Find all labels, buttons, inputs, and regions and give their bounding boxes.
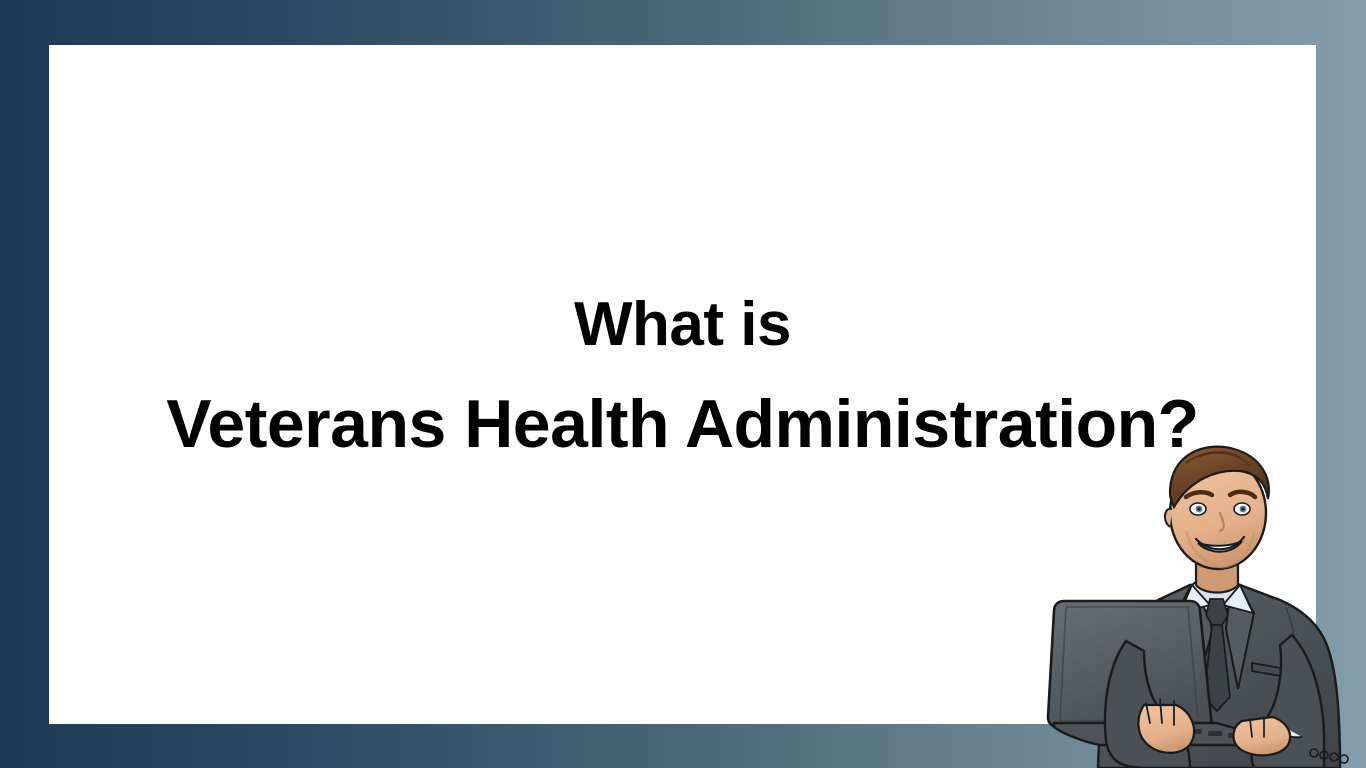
- page-title-line-2: Veterans Health Administration?: [49, 390, 1316, 458]
- slide-content-card: What is Veterans Health Administration?: [49, 45, 1316, 724]
- slide-root: What is Veterans Health Administration?: [0, 0, 1366, 768]
- page-title-line-1: What is: [49, 294, 1316, 356]
